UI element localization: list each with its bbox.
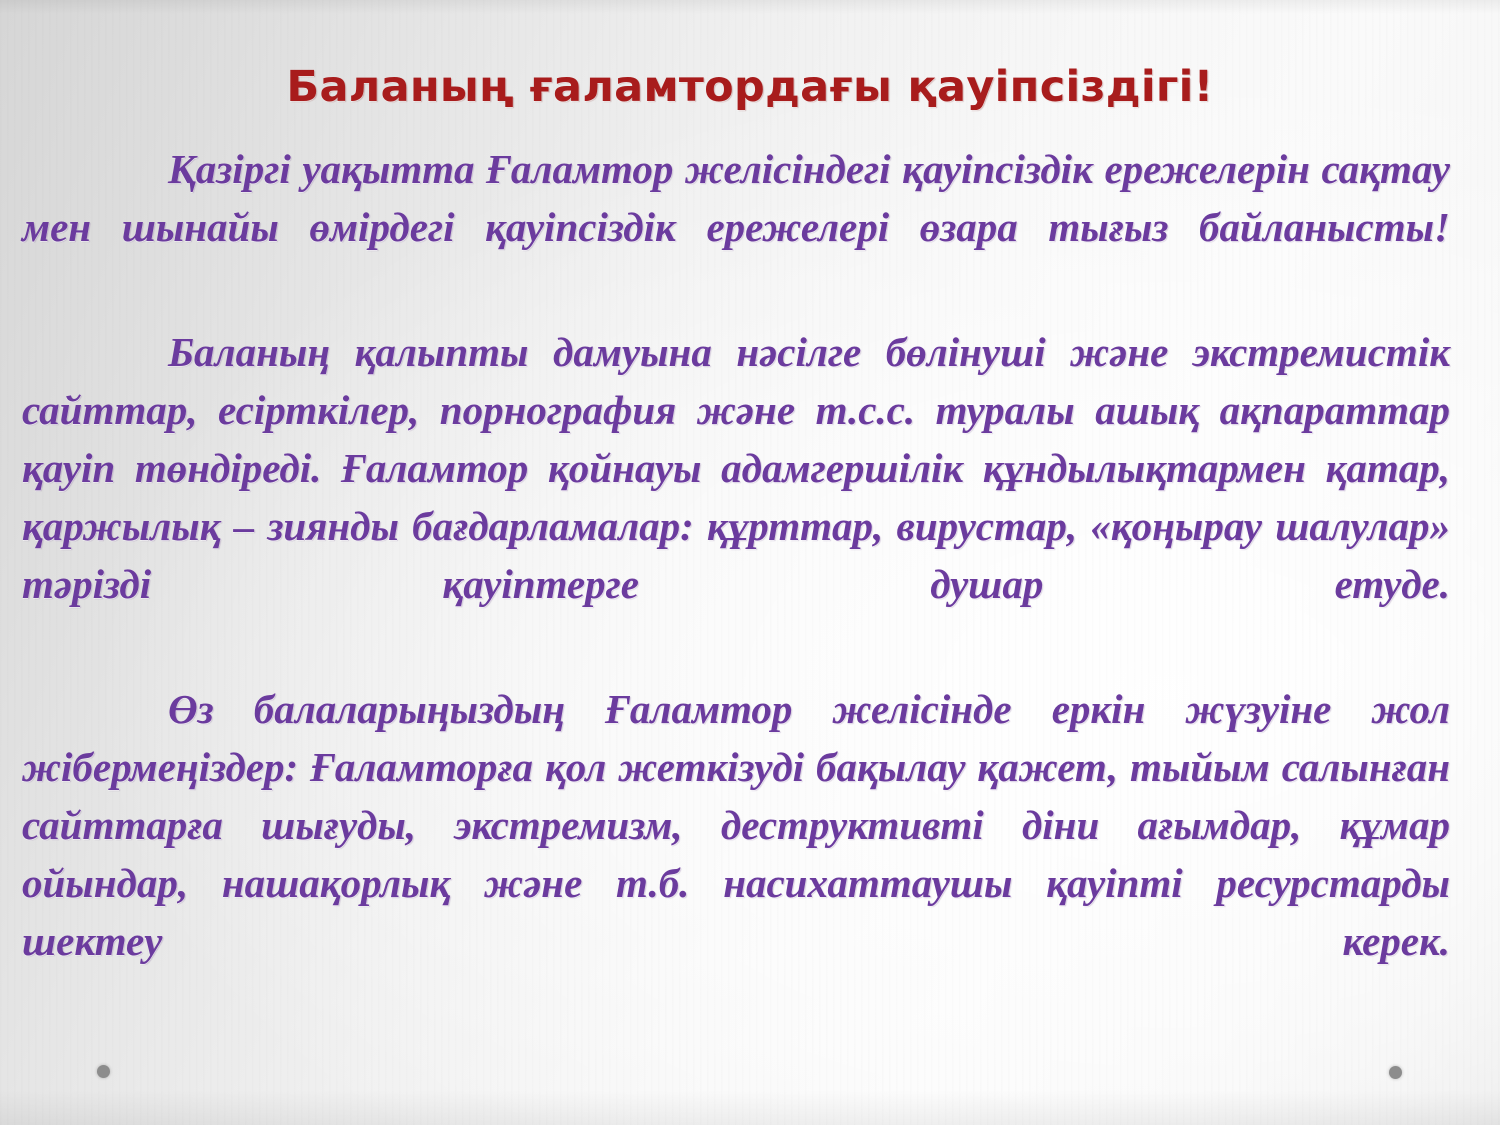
slide-content: Баланың ғаламтордағы қауіпсіздігі! Қазір…	[0, 0, 1500, 1125]
paragraph-3: Өз балаларыңыздың Ғаламтор желісінде ерк…	[22, 680, 1450, 1028]
presentation-slide: Баланың ғаламтордағы қауіпсіздігі! Қазір…	[0, 0, 1500, 1125]
body-text-block: Қазіргі уақытта Ғаламтор желісіндегі қау…	[22, 140, 1450, 1028]
paragraph-2: Баланың қалыпты дамуына нәсілге бөлінуші…	[22, 323, 1450, 671]
page-title: Баланың ғаламтордағы қауіпсіздігі!	[0, 62, 1500, 112]
bullet-dot-right-icon	[1389, 1066, 1402, 1079]
paragraph-1: Қазіргі уақытта Ғаламтор желісіндегі қау…	[22, 140, 1450, 314]
bullet-dot-left-icon	[97, 1065, 110, 1078]
